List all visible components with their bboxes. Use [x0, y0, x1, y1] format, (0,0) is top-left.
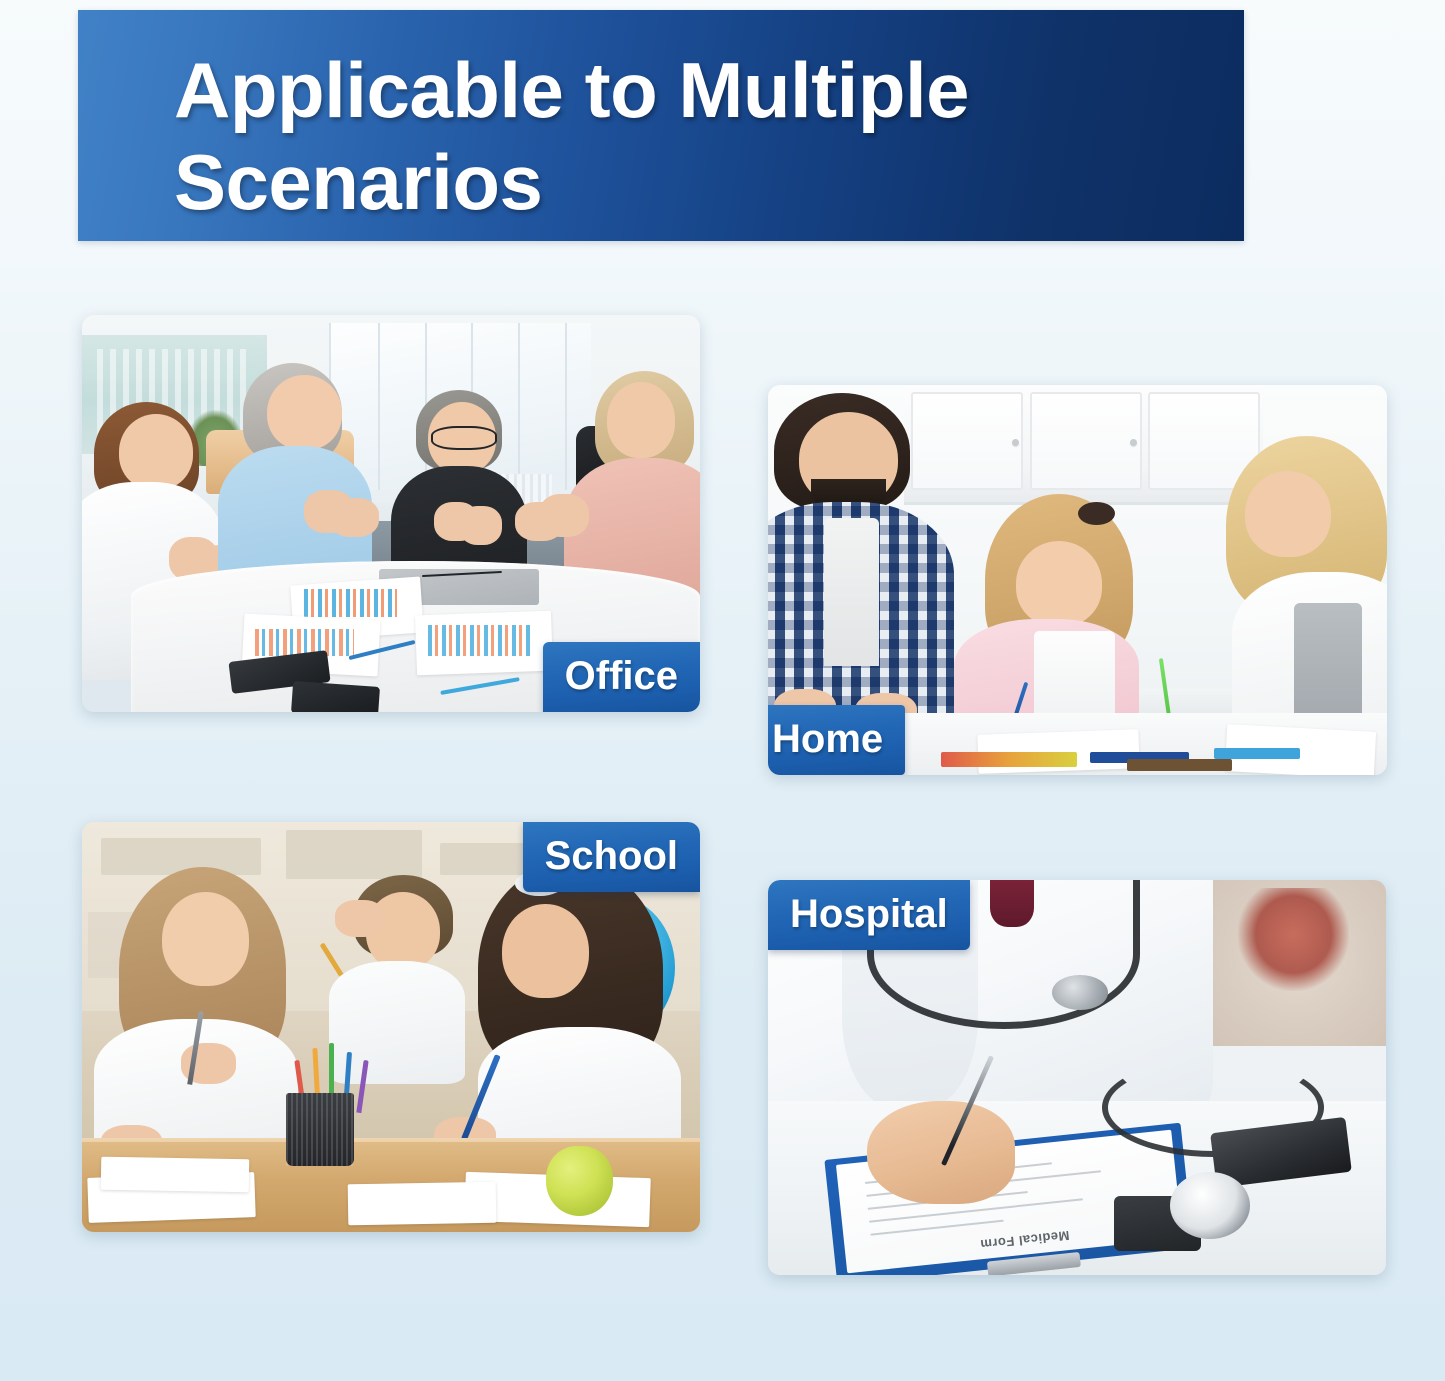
scenario-card-school[interactable]: School [82, 822, 700, 1232]
scenario-card-hospital[interactable]: Medical Form Hospital [768, 880, 1386, 1275]
medical-form-title: Medical Form [979, 1228, 1070, 1252]
scenario-card-office[interactable]: Office [82, 315, 700, 712]
scenario-card-home[interactable]: Home [768, 385, 1387, 775]
page-title: Applicable to Multiple Scenarios [174, 44, 1224, 228]
scenario-badge-office: Office [543, 642, 700, 712]
header-banner: Applicable to Multiple Scenarios [78, 10, 1244, 241]
scenario-badge-hospital: Hospital [768, 880, 970, 950]
scenario-badge-home: Home [768, 705, 905, 775]
scenario-badge-school: School [523, 822, 700, 892]
